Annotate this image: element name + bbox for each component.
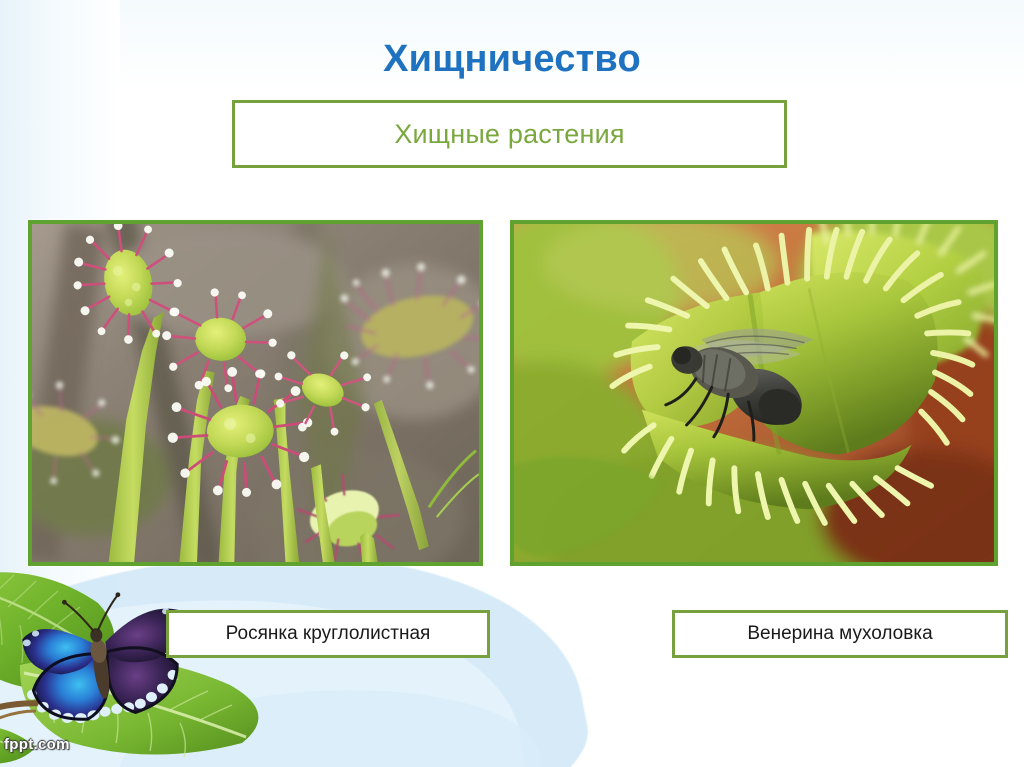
figure-image-flytrap <box>510 220 998 566</box>
figure-caption-flytrap: Венерина мухоловка <box>672 610 1008 658</box>
slide-canvas: Хищничество Хищные растения <box>0 0 1024 767</box>
figure-image-sundew <box>28 220 483 566</box>
subtitle-text: Хищные растения <box>394 119 624 150</box>
watermark-fppt: fppt.com <box>4 736 70 753</box>
figure-caption-sundew: Росянка круглолистная <box>166 610 490 658</box>
figure-caption-flytrap-text: Венерина мухоловка <box>747 623 932 645</box>
venus-flytrap-photo <box>514 224 994 562</box>
sundew-plant-photo <box>32 224 479 562</box>
subtitle-box: Хищные растения <box>232 100 787 168</box>
figure-caption-sundew-text: Росянка круглолистная <box>226 623 431 645</box>
slide-title: Хищничество <box>0 38 1024 81</box>
